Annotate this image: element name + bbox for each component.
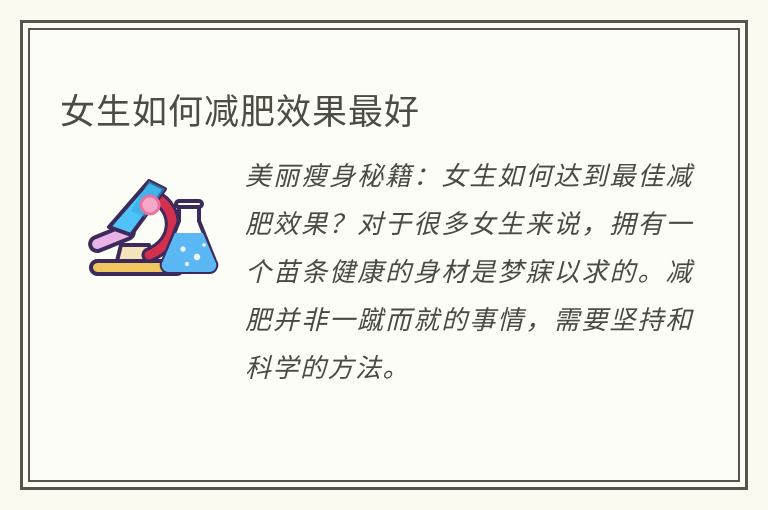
microscope-joint [141, 196, 159, 214]
article-body-text: 美丽瘦身秘籍：女生如何达到最佳减肥效果？对于很多女生来说，拥有一个苗条健康的身材… [245, 153, 693, 393]
flask-bubble [185, 262, 189, 266]
card-content: 女生如何减肥效果最好 [23, 23, 745, 487]
page-title: 女生如何减肥效果最好 [60, 90, 420, 136]
illustration-column [60, 153, 245, 279]
flask-neck-rim [176, 201, 202, 207]
flask-bubble [180, 246, 185, 251]
article-text-column: 美丽瘦身秘籍：女生如何达到最佳减肥效果？对于很多女生来说，拥有一个苗条健康的身材… [245, 153, 705, 393]
article-body-row: 美丽瘦身秘籍：女生如何达到最佳减肥效果？对于很多女生来说，拥有一个苗条健康的身材… [60, 153, 705, 393]
flask-bubble [202, 243, 206, 247]
article-card: 女生如何减肥效果最好 [20, 20, 748, 490]
flask-bubble [193, 254, 199, 260]
microscope-flask-icon [87, 175, 219, 279]
